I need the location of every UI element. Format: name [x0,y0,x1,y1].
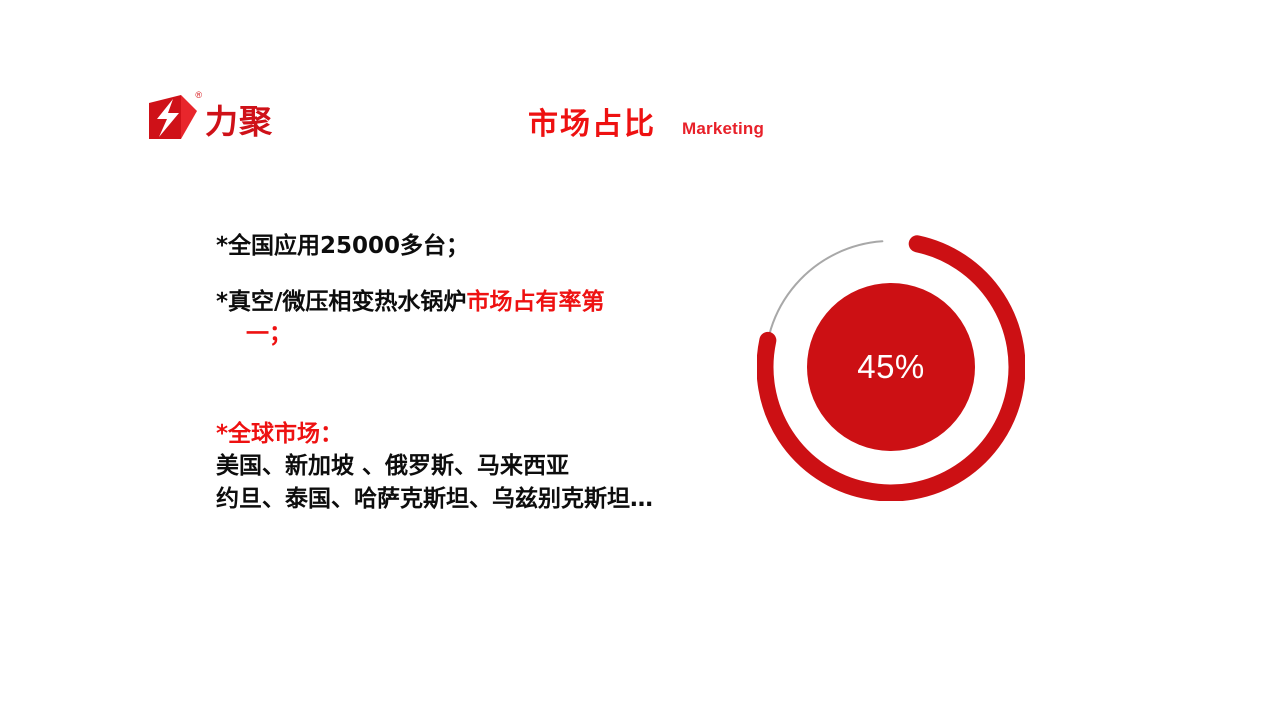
brand-logo: ® 力聚 [147,93,273,143]
registered-trademark-icon: ® [195,91,202,100]
bullet-domestic: *全国应用25000多台； [216,230,716,263]
bullet-market-share-highlight: 市场占有率第 [466,289,604,315]
lightning-bolt-icon: ® [147,93,199,143]
body-copy: *全国应用25000多台； *真空/微压相变热水锅炉市场占有率第 一； [216,207,716,374]
title-main-text: 市场占比 [528,110,656,140]
bullet-market-share: *真空/微压相变热水锅炉市场占有率第 一； [216,286,716,351]
bullet-market-share-lead: *真空/微压相变热水锅炉 [216,289,466,315]
global-market-heading: *全球市场： [216,419,776,450]
market-share-donut-chart: 45% [757,233,1025,501]
title-subtitle-text: Marketing [682,120,764,137]
global-market-block: *全球市场： 美国、新加坡 、俄罗斯、马来西亚 约旦、泰国、哈萨克斯坦、乌兹别克… [216,419,776,515]
brand-wordmark: 力聚 [205,105,273,138]
bullet-market-share-wrap: 一； [216,318,716,351]
global-market-line-1: 美国、新加坡 、俄罗斯、马来西亚 [216,450,776,483]
slide-root: ® 力聚 市场占比 Marketing *全国应用25000多台； *真空/微压… [0,0,1280,720]
donut-center-disc [807,283,975,451]
page-title: 市场占比 Marketing [528,110,764,140]
global-market-line-2: 约旦、泰国、哈萨克斯坦、乌兹别克斯坦… [216,483,776,516]
